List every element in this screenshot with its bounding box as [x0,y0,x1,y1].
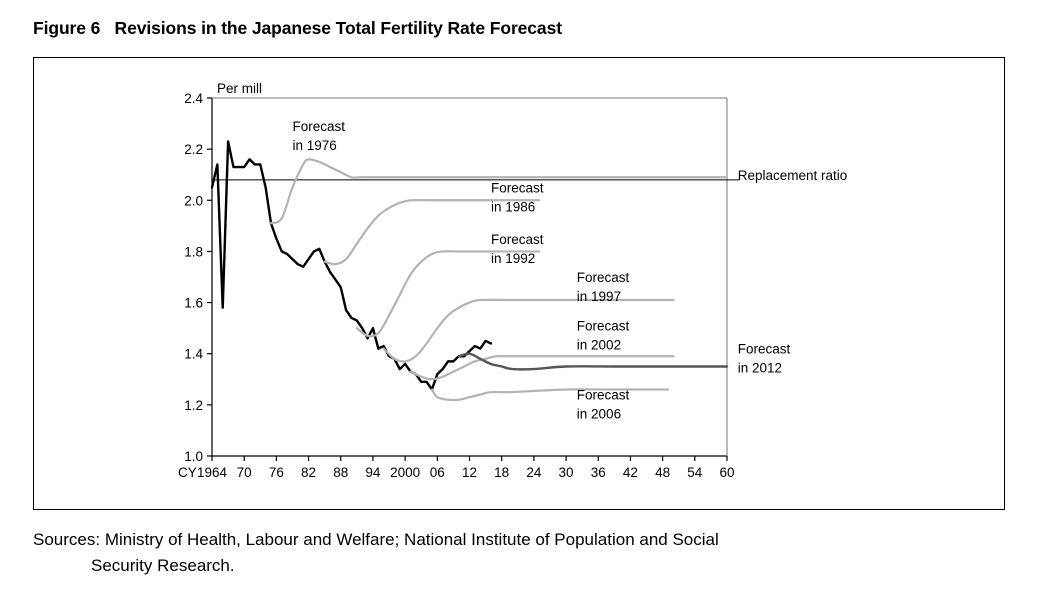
x-tick-label: 1964 [197,465,228,480]
annotation-label: Forecast [577,319,630,334]
series-line-forecast-in-1997 [384,300,674,362]
annotation-label: in 1992 [491,251,535,266]
y-tick-label: 1.4 [184,347,203,362]
y-tick-label: 2.4 [184,91,203,106]
x-tick-label: 70 [237,465,252,480]
annotation-label: in 2006 [577,407,621,422]
y-tick-label: 2.2 [184,142,203,157]
x-tick-label: 54 [687,465,703,480]
annotation-label: in 1997 [577,289,621,304]
annotation-label: Forecast [491,232,544,247]
y-tick-label: 1.2 [184,398,203,413]
y-tick-label: 2.0 [184,193,203,208]
x-tick-label: 2000 [390,465,420,480]
x-tick-label: 82 [301,465,316,480]
x-tick-label: 88 [333,465,348,480]
x-axis-prefix-label: CY [178,465,197,480]
annotation-label: Replacement ratio [738,168,848,183]
x-tick-label: 24 [526,465,542,480]
annotation-label: Forecast [577,270,630,285]
annotation-label: in 2002 [577,338,621,353]
annotation-label: in 2012 [738,361,782,376]
sources-note: Sources: Ministry of Health, Labour and … [33,527,993,578]
x-tick-label: 60 [719,465,734,480]
sources-label: Sources: [33,527,100,553]
annotation-label: Forecast [577,388,630,403]
y-tick-label: 1.8 [184,244,203,259]
annotation-label: Forecast [292,119,345,134]
y-tick-label: 1.6 [184,296,203,311]
x-tick-label: 94 [365,465,381,480]
fertility-rate-chart: 1.01.21.41.61.82.02.22.4Per mill19647076… [34,58,1006,511]
x-tick-label: 42 [623,465,638,480]
annotation-label: in 1986 [491,200,535,215]
x-tick-label: 12 [462,465,477,480]
series-line-actual [212,141,491,389]
y-axis-unit-label: Per mill [217,81,262,96]
x-tick-label: 06 [430,465,445,480]
sources-line-2: Security Research. [33,553,993,579]
x-tick-label: 18 [494,465,509,480]
series-line-forecast-in-2006 [432,389,668,400]
x-tick-label: 36 [591,465,606,480]
x-tick-label: 48 [655,465,670,480]
x-tick-label: 76 [269,465,284,480]
annotation-label: Forecast [491,181,544,196]
y-tick-label: 1.0 [184,449,203,464]
x-tick-label: 30 [559,465,574,480]
chart-frame: 1.01.21.41.61.82.02.22.4Per mill19647076… [33,57,1005,510]
annotation-label: Forecast [738,342,791,357]
annotation-label: in 1976 [292,138,336,153]
sources-line-1: Ministry of Health, Labour and Welfare; … [105,530,719,549]
page-title: Figure 6 Revisions in the Japanese Total… [33,18,562,39]
